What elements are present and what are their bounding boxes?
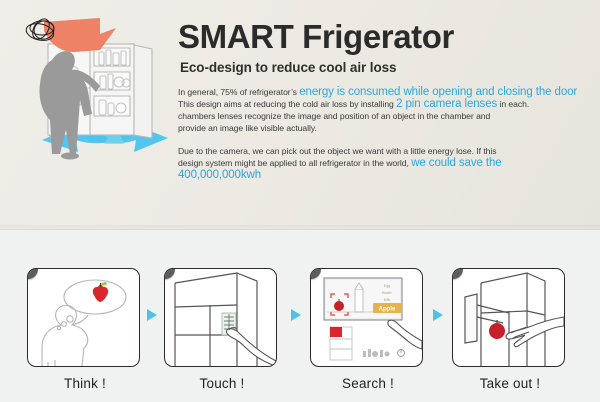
step-4-illustration xyxy=(453,269,564,366)
paragraph-one: In general, 75% of refrigerator’s energy… xyxy=(178,86,598,134)
step-1-illustration xyxy=(28,269,139,366)
step-1-card[interactable]: 1 xyxy=(27,268,140,367)
open-refrigerator-icon xyxy=(465,273,545,366)
infographic-poster: SMART Frigerator Eco-design to reduce co… xyxy=(0,0,600,402)
mini-items-row xyxy=(363,349,390,357)
step-3-label: Search ! xyxy=(310,376,426,391)
person-outline-icon xyxy=(42,306,88,367)
screen-apple-icon xyxy=(334,301,344,311)
p2-highlight-save: we could save the xyxy=(411,157,501,169)
step-4[interactable]: 4 xyxy=(452,268,568,391)
step-2[interactable]: 2 xyxy=(164,268,280,391)
arrow-1-to-2-icon xyxy=(146,308,158,322)
step-3-illustration: Egg Butter Milk Apple xyxy=(311,269,422,366)
step-2-illustration xyxy=(165,269,276,366)
p2-highlight-kwh: 400,000,000kwh xyxy=(178,169,261,181)
step-2-label: Touch ! xyxy=(164,376,280,391)
step-3[interactable]: 3 xyxy=(310,268,426,391)
p2-line2-lead: design system might be applied to all re… xyxy=(178,158,409,168)
refrigerator-front-icon xyxy=(175,273,257,366)
arrow-3-to-4-icon xyxy=(432,308,444,322)
step-4-label: Take out ! xyxy=(452,376,568,391)
apple-icon xyxy=(93,282,108,302)
fridge-screen-icon: Egg Butter Milk Apple xyxy=(324,278,402,320)
p1-line4: provide an image like visible actually. xyxy=(178,123,317,133)
screen-item-butter: Butter xyxy=(382,291,392,295)
mini-fridge-diagram-icon xyxy=(330,327,352,360)
hand-icon xyxy=(506,317,564,347)
step-3-card[interactable]: 3 xyxy=(310,268,423,367)
paragraph-two: Due to the camera, we can pick out the o… xyxy=(178,145,598,181)
p1-highlight-lenses: 2 pin camera lenses xyxy=(396,98,497,110)
p1-highlight-energy: energy is consumed while opening and clo… xyxy=(299,86,577,98)
p1-lead: In general, 75% of refrigerator’s xyxy=(178,87,297,97)
screen-item-milk: Milk xyxy=(384,298,391,302)
p1-line2-lead: This design aims at reducing the cold ai… xyxy=(178,99,394,109)
hand-icon xyxy=(388,320,422,349)
hand-icon xyxy=(226,328,276,366)
header-panel: SMART Frigerator Eco-design to reduce co… xyxy=(0,0,600,230)
step-2-card[interactable]: 2 xyxy=(164,268,277,367)
screen-item-egg: Egg xyxy=(384,284,390,288)
arrow-2-to-3-icon xyxy=(290,308,302,322)
step-4-card[interactable]: 4 xyxy=(452,268,565,367)
fridge-illustration xyxy=(4,4,172,219)
step-1-label: Think ! xyxy=(27,376,143,391)
page-subtitle: Eco-design to reduce cool air loss xyxy=(180,60,396,75)
step-1[interactable]: 1 xyxy=(27,268,143,391)
page-title: SMART Frigerator xyxy=(178,20,454,53)
p1-line3: chambers lenses recognize the image and … xyxy=(178,111,490,121)
p2-line1: Due to the camera, we can pick out the o… xyxy=(178,146,497,156)
steps-panel: 1 xyxy=(0,230,600,402)
screen-item-apple: Apple xyxy=(379,307,396,313)
p1-line2-tail: in each. xyxy=(500,99,530,109)
